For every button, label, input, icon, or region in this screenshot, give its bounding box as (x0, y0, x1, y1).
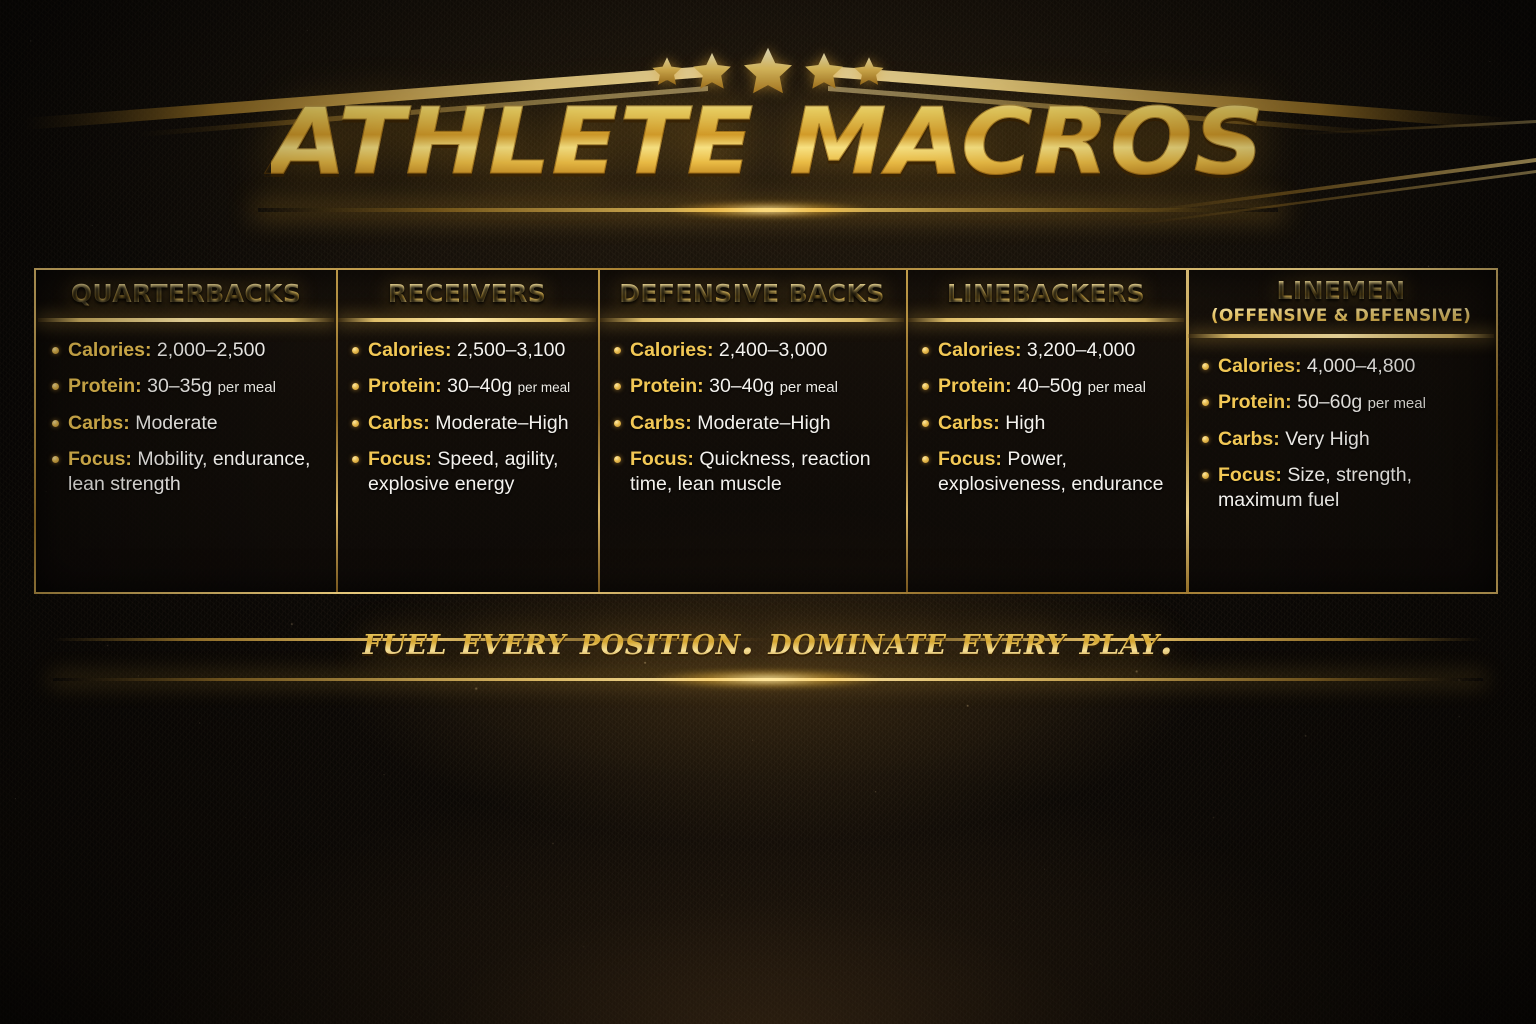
macro-value: Moderate (135, 412, 217, 434)
list-item: Protein: 30–40g per meal (612, 374, 896, 399)
macro-label: Focus: (630, 448, 694, 470)
column-receivers: RECEIVERS Calories: 2,500–3,100 Protein:… (336, 270, 598, 592)
column-title: DEFENSIVE BACKS (619, 281, 884, 307)
list-item: Focus: Speed, agility, explosive energy (350, 447, 588, 498)
macro-value: 4,000–4,800 (1307, 355, 1415, 377)
list-item: Calories: 2,500–3,100 (350, 338, 588, 363)
macro-label: Calories: (68, 339, 151, 361)
column-header: LINEMEN (OFFENSIVE & DEFENSIVE) (1186, 270, 1496, 334)
column-title: LINEBACKERS (947, 281, 1145, 307)
column-linemen: LINEMEN (OFFENSIVE & DEFENSIVE) Calories… (1186, 270, 1496, 592)
macro-label: Focus: (368, 448, 432, 470)
macro-label: Carbs: (68, 412, 130, 434)
macro-value: 2,500–3,100 (457, 339, 565, 361)
macro-label: Calories: (368, 339, 451, 361)
macro-list: Calories: 2,500–3,100 Protein: 30–40g pe… (350, 338, 588, 498)
list-item: Carbs: Very High (1200, 427, 1486, 452)
list-item: Carbs: Moderate (50, 411, 326, 436)
footer-tagline: Fuel Every Position. Dominate Every Play… (345, 618, 1192, 663)
column-title: RECEIVERS (388, 281, 546, 307)
macro-label: Calories: (630, 339, 713, 361)
list-item: Protein: 30–35g per meal (50, 374, 326, 399)
column-header: LINEBACKERS (906, 270, 1186, 318)
macro-value: High (1005, 412, 1045, 434)
list-item: Protein: 40–50g per meal (920, 374, 1176, 399)
column-body: Calories: 2,500–3,100 Protein: 30–40g pe… (336, 322, 598, 508)
column-header: QUARTERBACKS (36, 270, 336, 318)
macro-value: 30–40g (709, 375, 774, 397)
column-linebackers: LINEBACKERS Calories: 3,200–4,000 Protei… (906, 270, 1186, 592)
macro-value: 30–35g (147, 375, 212, 397)
page-title-wrap: ATHLETE MACROS (0, 96, 1536, 188)
list-item: Protein: 50–60g per meal (1200, 390, 1486, 415)
macro-label: Protein: (68, 375, 142, 397)
macro-label: Carbs: (938, 412, 1000, 434)
macro-value: 40–50g (1017, 375, 1082, 397)
macro-list: Calories: 4,000–4,800 Protein: 50–60g pe… (1200, 354, 1486, 514)
title-underglow-core (668, 202, 868, 218)
column-quarterbacks: QUARTERBACKS Calories: 2,000–2,500 Prote… (36, 270, 336, 592)
column-body: Calories: 4,000–4,800 Protein: 50–60g pe… (1186, 338, 1496, 524)
macro-label: Protein: (630, 375, 704, 397)
header-divider-rule (38, 318, 334, 322)
macro-list: Calories: 2,400–3,000 Protein: 30–40g pe… (612, 338, 896, 498)
header-banner: ATHLETE MACROS (0, 0, 1536, 252)
list-item: Carbs: High (920, 411, 1176, 436)
column-body: Calories: 2,400–3,000 Protein: 30–40g pe… (598, 322, 906, 508)
list-item: Focus: Power, explosiveness, endurance (920, 447, 1176, 498)
star-icon (650, 55, 684, 89)
column-header: DEFENSIVE BACKS (598, 270, 906, 318)
list-item: Protein: 30–40g per meal (350, 374, 588, 399)
header-divider-rule (600, 318, 904, 322)
header-divider-rule (908, 318, 1184, 322)
macro-list: Calories: 2,000–2,500 Protein: 30–35g pe… (50, 338, 326, 498)
macro-label: Carbs: (1218, 428, 1280, 450)
macro-value: 50–60g (1297, 391, 1362, 413)
macro-value: Moderate–High (435, 412, 568, 434)
macro-unit: per meal (518, 380, 571, 395)
macro-label: Protein: (1218, 391, 1292, 413)
column-title: LINEMEN (1277, 278, 1406, 304)
list-item: Calories: 4,000–4,800 (1200, 354, 1486, 379)
macros-table: QUARTERBACKS Calories: 2,000–2,500 Prote… (34, 268, 1498, 594)
column-title: QUARTERBACKS (71, 281, 302, 307)
macro-value: Moderate–High (697, 412, 830, 434)
header-divider-rule (338, 318, 596, 322)
macro-unit: per meal (218, 379, 276, 396)
macro-label: Focus: (938, 448, 1002, 470)
list-item: Focus: Size, strength, maximum fuel (1200, 463, 1486, 514)
macro-label: Carbs: (368, 412, 430, 434)
footer-tagline-block: Fuel Every Position. Dominate Every Play… (0, 604, 1536, 690)
macro-unit: per meal (1368, 395, 1426, 412)
macro-label: Focus: (1218, 464, 1282, 486)
macros-columns: QUARTERBACKS Calories: 2,000–2,500 Prote… (36, 270, 1496, 592)
macro-value: 30–40g (447, 375, 512, 397)
macro-label: Carbs: (630, 412, 692, 434)
macro-value: 2,400–3,000 (719, 339, 827, 361)
macro-label: Protein: (368, 375, 442, 397)
macro-value: 3,200–4,000 (1027, 339, 1135, 361)
column-header: RECEIVERS (336, 270, 598, 318)
macro-label: Calories: (1218, 355, 1301, 377)
list-item: Carbs: Moderate–High (350, 411, 588, 436)
list-item: Calories: 2,400–3,000 (612, 338, 896, 363)
column-defensive-backs: DEFENSIVE BACKS Calories: 2,400–3,000 Pr… (598, 270, 906, 592)
macro-list: Calories: 3,200–4,000 Protein: 40–50g pe… (920, 338, 1176, 498)
column-body: Calories: 2,000–2,500 Protein: 30–35g pe… (36, 322, 336, 508)
infographic-canvas: ATHLETE MACROS QUARTERBACKS Calories: 2,… (0, 0, 1536, 1024)
page-title: ATHLETE MACROS (271, 96, 1265, 188)
list-item: Focus: Mobility, endurance, lean strengt… (50, 447, 326, 498)
star-icon (852, 55, 886, 89)
tagline-glow-core (653, 670, 883, 688)
header-divider-rule (1188, 334, 1494, 338)
macro-label: Focus: (68, 448, 132, 470)
list-item: Calories: 3,200–4,000 (920, 338, 1176, 363)
macro-unit: per meal (1088, 379, 1146, 396)
macro-value: 2,000–2,500 (157, 339, 265, 361)
macro-label: Calories: (938, 339, 1021, 361)
column-body: Calories: 3,200–4,000 Protein: 40–50g pe… (906, 322, 1186, 508)
column-subtitle: (OFFENSIVE & DEFENSIVE) (1211, 306, 1471, 326)
list-item: Focus: Quickness, reaction time, lean mu… (612, 447, 896, 498)
list-item: Calories: 2,000–2,500 (50, 338, 326, 363)
macro-unit: per meal (780, 379, 838, 396)
list-item: Carbs: Moderate–High (612, 411, 896, 436)
macro-value: Very High (1285, 428, 1370, 450)
macro-label: Protein: (938, 375, 1012, 397)
